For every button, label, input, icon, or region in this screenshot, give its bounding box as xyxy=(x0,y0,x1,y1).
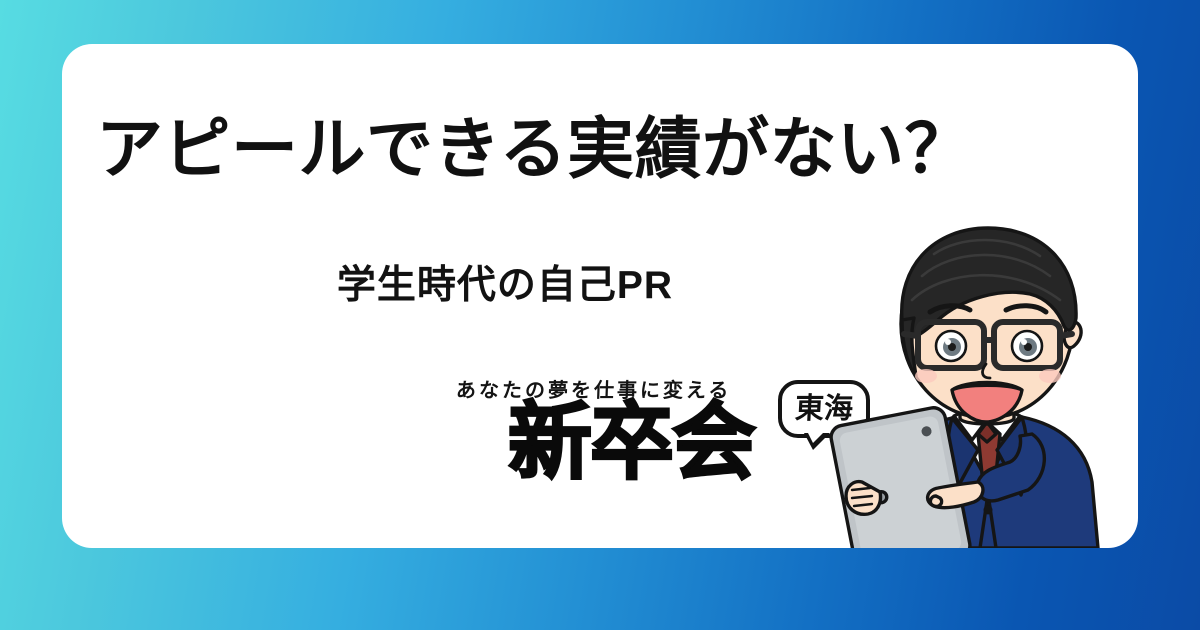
content-card: アピールできる実績がない？ 学生時代の自己PR あなたの夢を仕事に変える 新卒会… xyxy=(62,44,1138,548)
og-image-canvas: アピールできる実績がない？ 学生時代の自己PR あなたの夢を仕事に変える 新卒会… xyxy=(0,0,1200,630)
page-title: アピールできる実績がない？ xyxy=(96,116,1106,183)
brand-logo: あなたの夢を仕事に変える 新卒会 東海 xyxy=(396,374,826,534)
businessman-illustration xyxy=(802,194,1138,548)
brand-wordmark: 新卒会 xyxy=(508,400,754,484)
